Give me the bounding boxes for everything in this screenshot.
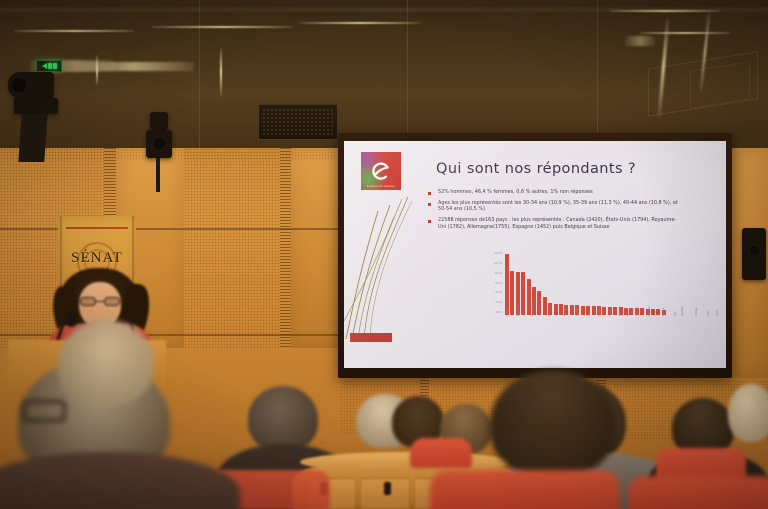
light-edge: [96, 55, 98, 85]
audience-head: [248, 386, 318, 452]
slide-bullet-list: 52% hommes, 46,4 % femmes, 0,6 % autres,…: [427, 189, 679, 235]
slide-accent-bar: [350, 333, 392, 342]
swirl-icon: [368, 158, 394, 184]
chart-y-tick: 2,0 %: [495, 302, 502, 305]
ceiling-light: [300, 22, 420, 24]
glass-pane: [408, 0, 598, 152]
desk-knob: [384, 482, 391, 495]
camera-pole: [156, 158, 160, 192]
audience-head: [728, 384, 768, 442]
camera-pole: [18, 114, 47, 162]
list-item: Ages les plus représentés sont les 30-34…: [427, 200, 679, 213]
exit-glyph: [53, 63, 57, 69]
light-edge: [220, 48, 222, 96]
foreground-head: [58, 320, 154, 406]
organisation-logo: Traduire les sciences: [361, 152, 401, 190]
foreground-seat: [628, 476, 768, 509]
chart-y-tick: 0,0 %: [495, 312, 502, 315]
chart-y-tick: 10,0 %: [494, 263, 502, 266]
ceiling-light: [14, 30, 134, 32]
desk-top: [300, 452, 512, 472]
acoustic-panel: [184, 148, 280, 348]
light-panel: [74, 62, 194, 71]
exit-arrow-icon: [42, 63, 47, 69]
chart-y-tick: 12,0 %: [494, 253, 502, 256]
bullet-text: Ages les plus représentés sont les 30-34…: [438, 200, 679, 213]
microphone-head: [66, 312, 77, 327]
bullet-text: 22588 réponses de163 pays : les plus rep…: [438, 217, 679, 230]
upper-wall: [0, 0, 768, 152]
foreground-glasses-icon: [22, 400, 66, 422]
respondents-bar-chart: 12,0 %10,0 %8,0 %6,0 %4,0 %2,0 %0,0 % Ca…: [486, 253, 666, 331]
foreground-head: [490, 370, 616, 478]
chart-x-axis: CanadaÉtats-UnisRoyaume-UniAllemagneEspa…: [505, 316, 666, 332]
chart-x-tick: Japon: [717, 310, 726, 316]
chart-y-tick: 6,0 %: [495, 283, 502, 286]
audience-seat: [410, 438, 472, 468]
ceiling-light: [640, 32, 730, 34]
acoustic-panel: [0, 148, 348, 160]
wall-loudspeaker: [258, 104, 338, 140]
ceiling-light: [610, 10, 720, 12]
exit-glyph: [48, 63, 52, 69]
logo-caption: Traduire les sciences: [361, 185, 401, 188]
camera-lens-icon: [748, 244, 761, 257]
bridge: [96, 301, 104, 302]
chart-y-tick: 4,0 %: [495, 292, 502, 295]
exit-sign: [36, 60, 62, 72]
chart-y-tick: 8,0 %: [495, 273, 502, 276]
list-item: 52% hommes, 46,4 % femmes, 0,6 % autres,…: [427, 189, 679, 196]
wall-seam: [0, 228, 348, 230]
plaque-rule: [66, 227, 128, 229]
bullet-text: 52% hommes, 46,4 % femmes, 0,6 % autres,…: [438, 189, 679, 196]
camera-mount: [14, 98, 58, 114]
chart-y-axis: 12,0 %10,0 %8,0 %6,0 %4,0 %2,0 %0,0 %: [486, 253, 502, 315]
lens: [104, 297, 120, 306]
speaker-grille: [262, 108, 334, 136]
list-item: 22588 réponses de163 pays : les plus rep…: [427, 217, 679, 230]
slide-title: Qui sont nos répondants ?: [436, 161, 636, 177]
chart-x-tick: Royaume-Uni: [532, 302, 548, 316]
glasses-icon: [80, 297, 120, 306]
light-panel: [625, 36, 655, 46]
grass-decoration: [344, 171, 414, 341]
projected-slide: Traduire les sciences Qui sont nos répon…: [344, 141, 726, 368]
camera-body: [150, 112, 168, 130]
foreground-seat: [430, 470, 620, 509]
senat-label: SÉNAT: [58, 250, 136, 267]
lens: [80, 297, 96, 306]
ceiling-light: [152, 26, 292, 28]
wood-slat: [280, 148, 291, 348]
projection-screen-frame: Traduire les sciences Qui sont nos répon…: [338, 133, 732, 378]
conference-room-photo: SÉNAT Traduire les sciences: [0, 0, 768, 509]
camera-lens-icon: [152, 136, 167, 151]
camera-lens-icon: [10, 76, 28, 94]
chart-bar: [505, 254, 509, 315]
